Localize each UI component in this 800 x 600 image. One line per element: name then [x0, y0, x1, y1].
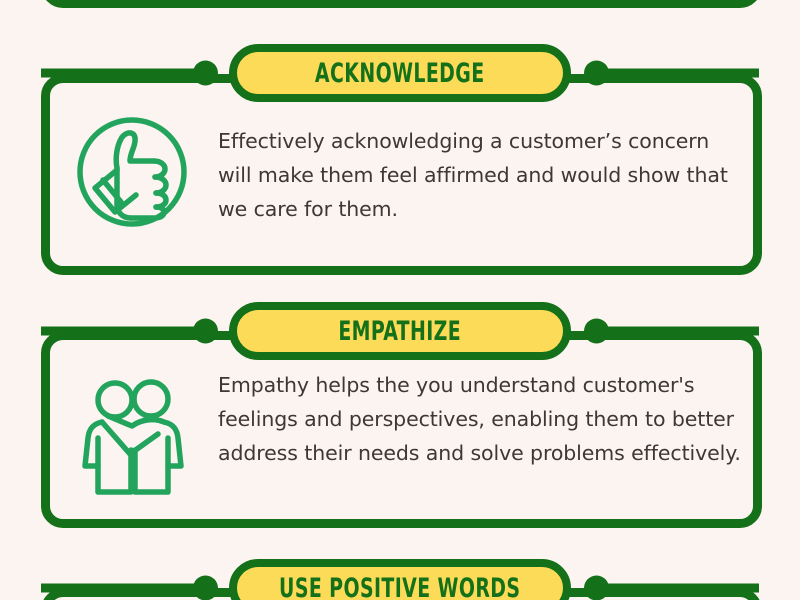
connector-rule-right	[587, 69, 759, 78]
connector-rule-right	[587, 327, 759, 336]
header-label-acknowledge: ACKNOWLEDGE	[315, 60, 485, 87]
step-header-acknowledge: ACKNOWLEDGE	[0, 42, 800, 104]
step-body-text-empathize: Empathy helps the you understand custome…	[218, 362, 748, 470]
previous-step-card-partial	[41, 0, 762, 8]
connector-dot-left	[193, 319, 218, 344]
connector-dot-right	[584, 576, 609, 600]
step-body-empathize: Empathy helps the you understand custome…	[68, 362, 748, 496]
header-label-use-positive-words: USE POSITIVE WORDS	[279, 575, 520, 600]
header-pill-acknowledge[interactable]: ACKNOWLEDGE	[229, 44, 571, 102]
connector-rule-left	[41, 69, 213, 78]
connector-rule-left	[41, 327, 213, 336]
connector-dot-left	[193, 576, 218, 600]
header-label-empathize: EMPATHIZE	[339, 318, 462, 345]
header-pill-empathize[interactable]: EMPATHIZE	[229, 302, 571, 360]
infographic-canvas: ACKNOWLEDGE	[0, 0, 800, 600]
step-header-use-positive-words: USE POSITIVE WORDS	[0, 557, 800, 600]
thumbs-up-in-circle-icon	[68, 108, 196, 236]
connector-rule-left	[41, 584, 213, 593]
step-body-text-acknowledge: Effectively acknowledging a customer’s c…	[218, 104, 748, 226]
two-people-arm-around-shoulder-icon	[68, 368, 196, 496]
step-header-empathize: EMPATHIZE	[0, 300, 800, 362]
step-body-acknowledge: Effectively acknowledging a customer’s c…	[68, 104, 748, 236]
connector-dot-left	[193, 61, 218, 86]
connector-dot-right	[584, 319, 609, 344]
header-pill-use-positive-words[interactable]: USE POSITIVE WORDS	[229, 559, 571, 600]
connector-dot-right	[584, 61, 609, 86]
connector-rule-right	[587, 584, 759, 593]
